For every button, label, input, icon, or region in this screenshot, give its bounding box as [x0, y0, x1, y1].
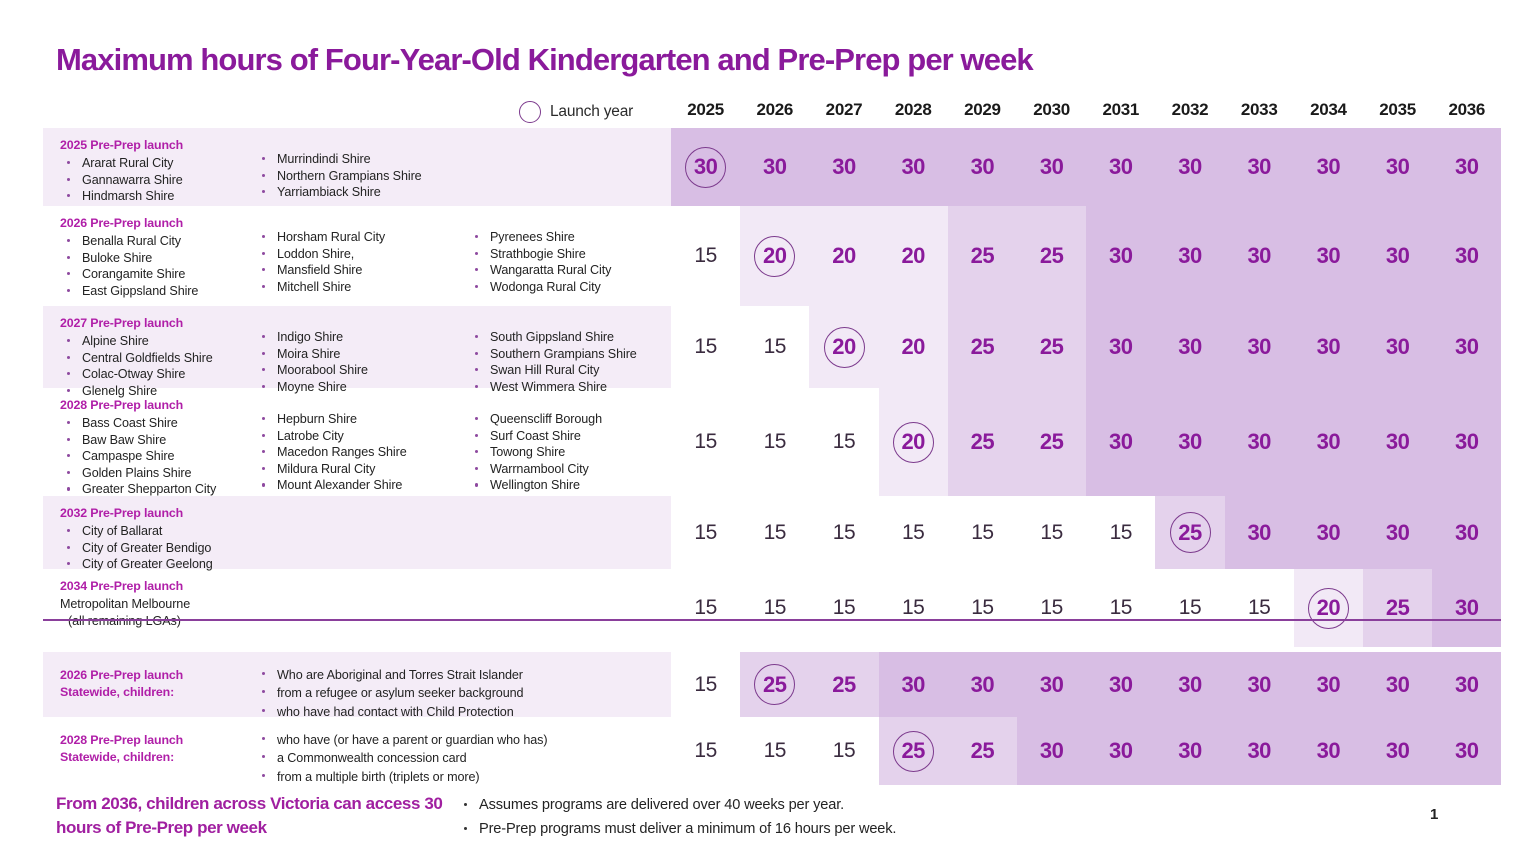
hours-cell: 25 — [1363, 597, 1432, 619]
hours-cell: 15 — [671, 522, 740, 543]
year-header-2028: 2028 — [879, 100, 948, 120]
lga-list-item: Northern Grampians Shire — [255, 168, 470, 185]
lga-list-item: South Gippsland Shire — [468, 329, 673, 346]
lga-list-item: Bass Coast Shire — [60, 415, 260, 432]
lga-list-item: Southern Grampians Shire — [468, 346, 673, 363]
lga-list-item: Baw Baw Shire — [60, 432, 260, 449]
lga-list-item: East Gippsland Shire — [60, 283, 260, 300]
year-header-2030: 2030 — [1017, 100, 1086, 120]
hours-cell: 30 — [1363, 740, 1432, 762]
lga-list-item: Wangaratta Rural City — [468, 262, 673, 279]
lga-column-2: Pyrenees ShireStrathbogie ShireWangaratt… — [468, 229, 673, 295]
hours-cell: 30 — [1363, 245, 1432, 267]
hours-cell: 15 — [671, 245, 740, 266]
row-launch-heading: 2028 Pre-Prep launch — [60, 398, 260, 412]
hours-cell: 30 — [1432, 674, 1501, 696]
hours-cell: 15 — [948, 522, 1017, 543]
row-launch-heading: 2034 Pre-Prep launch — [60, 579, 260, 593]
hours-cell: 30 — [1225, 156, 1294, 178]
lga-row: 2032 Pre-Prep launchCity of BallaratCity… — [43, 496, 671, 569]
year-header-2032: 2032 — [1155, 100, 1224, 120]
hours-cell: 15 — [671, 336, 740, 357]
hours-cell: 30 — [1225, 740, 1294, 762]
hours-cell: 15 — [1086, 597, 1155, 618]
row-launch-heading: 2028 Pre-Prep launch — [60, 733, 260, 747]
year-header-2029: 2029 — [948, 100, 1017, 120]
hours-cell: 30 — [1155, 674, 1224, 696]
row-launch-heading: 2032 Pre-Prep launch — [60, 506, 260, 520]
hours-cell: 30 — [1432, 336, 1501, 358]
lga-list-item: Ararat Rural City — [60, 155, 260, 172]
hours-cell: 30 — [1017, 740, 1086, 762]
hours-cell: 30 — [1086, 245, 1155, 267]
hours-grid: 3030303030303030303030301520202025253030… — [671, 128, 1501, 752]
hours-cell: 15 — [740, 740, 809, 761]
hours-cell: 20 — [809, 336, 878, 358]
lga-column-1: who have (or have a parent or guardian w… — [255, 731, 655, 786]
lga-column-primary: 2027 Pre-Prep launchAlpine ShireCentral … — [60, 316, 260, 399]
page-title: Maximum hours of Four-Year-Old Kindergar… — [56, 42, 1033, 78]
lga-list-item: Queenscliff Borough — [468, 411, 673, 428]
lga-list-item: Murrindindi Shire — [255, 151, 470, 168]
lga-list-item: Moorabool Shire — [255, 362, 470, 379]
lga-list-item: Swan Hill Rural City — [468, 362, 673, 379]
hours-cell: 30 — [1017, 674, 1086, 696]
lga-column-1: Hepburn ShireLatrobe CityMacedon Ranges … — [255, 411, 470, 494]
lga-list-item: Loddon Shire, — [255, 246, 470, 263]
lga-list-item: Macedon Ranges Shire — [255, 444, 470, 461]
lga-list-item: Corangamite Shire — [60, 266, 260, 283]
row-launch-subheading: Statewide, children: — [60, 685, 260, 699]
lga-column-1: Horsham Rural CityLoddon Shire,Mansfield… — [255, 229, 470, 295]
lga-list-item: Mansfield Shire — [255, 262, 470, 279]
hours-cell: 30 — [1432, 522, 1501, 544]
hours-cell: 30 — [1294, 156, 1363, 178]
lga-list-item: a Commonwealth concession card — [255, 749, 595, 767]
hours-cell: 30 — [671, 156, 740, 178]
footer-headline: From 2036, children across Victoria can … — [56, 792, 446, 840]
hours-cell: 30 — [1225, 674, 1294, 696]
hours-cell: 30 — [1155, 336, 1224, 358]
lga-list-item: Surf Coast Shire — [468, 428, 673, 445]
hours-cell: 30 — [1363, 674, 1432, 696]
year-header-2035: 2035 — [1363, 100, 1432, 120]
hours-cell: 30 — [1432, 156, 1501, 178]
lga-list-item: City of Ballarat — [60, 523, 260, 540]
hours-cell: 30 — [1294, 674, 1363, 696]
lga-column-primary: 2034 Pre-Prep launchMetropolitan Melbour… — [60, 579, 260, 629]
hours-cell: 30 — [1086, 674, 1155, 696]
hours-cell: 15 — [879, 597, 948, 618]
hours-cell: 20 — [1294, 597, 1363, 619]
hours-cell: 15 — [1017, 597, 1086, 618]
hours-cell: 15 — [740, 597, 809, 618]
hours-cell: 15 — [809, 431, 878, 452]
hours-cell: 30 — [1155, 156, 1224, 178]
hours-cell: 15 — [879, 522, 948, 543]
lga-list-item: City of Greater Bendigo — [60, 540, 260, 557]
hours-cell: 30 — [879, 156, 948, 178]
lga-list-item: Campaspe Shire — [60, 448, 260, 465]
lga-list-item: Hindmarsh Shire — [60, 188, 260, 205]
lga-list-item: Warrnambool City — [468, 461, 673, 478]
lga-column-primary: 2025 Pre-Prep launchArarat Rural CityGan… — [60, 138, 260, 205]
hours-cell: 30 — [1294, 336, 1363, 358]
lga-row: 2034 Pre-Prep launchMetropolitan Melbour… — [43, 569, 671, 647]
hours-cell: 15 — [948, 597, 1017, 618]
hours-cell: 20 — [879, 336, 948, 358]
lga-column-primary: 2026 Pre-Prep launchBenalla Rural CityBu… — [60, 216, 260, 299]
year-header-2025: 2025 — [671, 100, 740, 120]
lga-list-item: Who are Aboriginal and Torres Strait Isl… — [255, 666, 595, 684]
hours-cell: 25 — [1017, 336, 1086, 358]
hours-cell: 25 — [1017, 431, 1086, 453]
page-number: 1 — [1430, 806, 1438, 823]
hours-cell: 30 — [1294, 740, 1363, 762]
hours-cell: 30 — [1363, 336, 1432, 358]
lga-column-1: Murrindindi ShireNorthern Grampians Shir… — [255, 151, 470, 201]
lga-list-item: Benalla Rural City — [60, 233, 260, 250]
hours-cell: 25 — [948, 336, 1017, 358]
hours-cell: 30 — [1086, 431, 1155, 453]
hours-cell: 30 — [1155, 740, 1224, 762]
lga-list-item: Pyrenees Shire — [468, 229, 673, 246]
lga-list-item: Hepburn Shire — [255, 411, 470, 428]
hours-cell: 30 — [1363, 522, 1432, 544]
hours-cell: 30 — [1155, 245, 1224, 267]
year-header-row: 2025202620272028202920302031203220332034… — [671, 100, 1501, 126]
lga-list-item: Latrobe City — [255, 428, 470, 445]
hours-cell: 30 — [1432, 245, 1501, 267]
year-header-2031: 2031 — [1086, 100, 1155, 120]
lga-list-item: Wodonga Rural City — [468, 279, 673, 296]
year-header-2033: 2033 — [1225, 100, 1294, 120]
hours-cell: 25 — [809, 674, 878, 696]
lga-column-primary: 2026 Pre-Prep launchStatewide, children: — [60, 668, 260, 702]
lga-plain-text: Metropolitan Melbourne — [60, 596, 260, 613]
hours-cell: 20 — [809, 245, 878, 267]
lga-list-item: who have (or have a parent or guardian w… — [255, 731, 595, 749]
hours-cell: 30 — [809, 156, 878, 178]
hours-cell: 15 — [1017, 522, 1086, 543]
lga-list-panel: 2025 Pre-Prep launchArarat Rural CityGan… — [43, 128, 671, 752]
year-header-2034: 2034 — [1294, 100, 1363, 120]
lga-list-item: Gannawarra Shire — [60, 172, 260, 189]
lga-row: 2026 Pre-Prep launchBenalla Rural CityBu… — [43, 206, 671, 306]
hours-cell: 15 — [1086, 522, 1155, 543]
hours-cell: 30 — [1225, 336, 1294, 358]
hours-cell: 30 — [1294, 431, 1363, 453]
lga-row: 2025 Pre-Prep launchArarat Rural CityGan… — [43, 128, 671, 206]
lga-column-2: South Gippsland ShireSouthern Grampians … — [468, 329, 673, 395]
lga-list-item: Alpine Shire — [60, 333, 260, 350]
lga-column-2: Queenscliff BoroughSurf Coast ShireTowon… — [468, 411, 673, 494]
row-launch-heading: 2026 Pre-Prep launch — [60, 216, 260, 230]
lga-column-primary: 2028 Pre-Prep launchStatewide, children: — [60, 733, 260, 767]
row-launch-heading: 2025 Pre-Prep launch — [60, 138, 260, 152]
lga-column-primary: 2028 Pre-Prep launchBass Coast ShireBaw … — [60, 398, 260, 498]
hours-cell: 15 — [671, 597, 740, 618]
footer-note: Pre-Prep programs must deliver a minimum… — [458, 817, 1098, 841]
row-launch-heading: 2026 Pre-Prep launch — [60, 668, 260, 682]
lga-column-primary: 2032 Pre-Prep launchCity of BallaratCity… — [60, 506, 260, 573]
lga-list-item: Wellington Shire — [468, 477, 673, 494]
lga-list-item: from a refugee or asylum seeker backgrou… — [255, 684, 595, 702]
hours-cell: 25 — [1017, 245, 1086, 267]
lga-list-item: Buloke Shire — [60, 250, 260, 267]
hours-cell: 30 — [1294, 522, 1363, 544]
hours-cell: 15 — [671, 431, 740, 452]
hours-cell: 30 — [1294, 245, 1363, 267]
hours-cell: 25 — [948, 245, 1017, 267]
hours-cell: 15 — [809, 740, 878, 761]
hours-cell: 30 — [1432, 597, 1501, 619]
hours-cell: 25 — [948, 431, 1017, 453]
slide-page: Maximum hours of Four-Year-Old Kindergar… — [0, 0, 1536, 864]
lga-column-1: Indigo ShireMoira ShireMoorabool ShireMo… — [255, 329, 470, 395]
lga-list-item: Central Goldfields Shire — [60, 350, 260, 367]
hours-cell: 30 — [1086, 336, 1155, 358]
lga-row: 2028 Pre-Prep launchBass Coast ShireBaw … — [43, 388, 671, 496]
lga-list-item: Mildura Rural City — [255, 461, 470, 478]
hours-cell: 30 — [1225, 245, 1294, 267]
hours-cell: 15 — [740, 336, 809, 357]
hours-cell: 15 — [809, 597, 878, 618]
lga-list-item: Mitchell Shire — [255, 279, 470, 296]
hours-cell: 30 — [1155, 431, 1224, 453]
hours-cell: 15 — [809, 522, 878, 543]
hours-cell: 30 — [1017, 156, 1086, 178]
hours-cell: 15 — [671, 674, 740, 695]
launch-year-circle-icon — [519, 101, 541, 123]
hours-cell: 25 — [948, 740, 1017, 762]
legend-label: Launch year — [550, 103, 633, 121]
lga-row: 2027 Pre-Prep launchAlpine ShireCentral … — [43, 306, 671, 388]
year-header-2026: 2026 — [740, 100, 809, 120]
hours-cell: 30 — [879, 674, 948, 696]
lga-list-item: Horsham Rural City — [255, 229, 470, 246]
hours-cell: 30 — [948, 674, 1017, 696]
hours-cell: 30 — [1225, 431, 1294, 453]
year-header-2027: 2027 — [809, 100, 878, 120]
section-divider — [43, 619, 1501, 621]
hours-cell: 20 — [879, 245, 948, 267]
hours-cell: 20 — [879, 431, 948, 453]
lga-list-item: Strathbogie Shire — [468, 246, 673, 263]
row-launch-heading: 2027 Pre-Prep launch — [60, 316, 260, 330]
lga-list-item: from a multiple birth (triplets or more) — [255, 768, 595, 786]
year-header-2036: 2036 — [1432, 100, 1501, 120]
hours-cell: 15 — [671, 740, 740, 761]
lga-list-item: Mount Alexander Shire — [255, 477, 470, 494]
footer-notes: Assumes programs are delivered over 40 w… — [458, 793, 1098, 841]
hours-cell: 30 — [1432, 431, 1501, 453]
hours-cell: 30 — [1086, 740, 1155, 762]
hours-cell: 30 — [740, 156, 809, 178]
hours-cell: 25 — [1155, 522, 1224, 544]
hours-cell: 15 — [740, 522, 809, 543]
hours-cell: 15 — [1225, 597, 1294, 618]
hours-cell: 30 — [1363, 156, 1432, 178]
lga-list-item: Indigo Shire — [255, 329, 470, 346]
hours-cell: 30 — [948, 156, 1017, 178]
lga-list-item: Colac-Otway Shire — [60, 366, 260, 383]
lga-list-item: Towong Shire — [468, 444, 673, 461]
footer-note: Assumes programs are delivered over 40 w… — [458, 793, 1098, 817]
hours-cell: 25 — [740, 674, 809, 696]
row-launch-subheading: Statewide, children: — [60, 750, 260, 764]
hours-cell: 30 — [1086, 156, 1155, 178]
hours-cell: 30 — [1432, 740, 1501, 762]
hours-cell: 15 — [1155, 597, 1224, 618]
legend: Launch year — [519, 101, 633, 123]
lga-column-1: Who are Aboriginal and Torres Strait Isl… — [255, 666, 655, 721]
hours-cell: 25 — [879, 740, 948, 762]
lga-list-item: Golden Plains Shire — [60, 465, 260, 482]
lga-row: 2026 Pre-Prep launchStatewide, children:… — [43, 652, 671, 717]
lga-list-item: Moira Shire — [255, 346, 470, 363]
lga-list-item: Yarriambiack Shire — [255, 184, 470, 201]
hours-cell: 30 — [1225, 522, 1294, 544]
hours-cell: 30 — [1363, 431, 1432, 453]
lga-row: 2028 Pre-Prep launchStatewide, children:… — [43, 717, 671, 785]
hours-cell: 15 — [740, 431, 809, 452]
hours-cell: 20 — [740, 245, 809, 267]
